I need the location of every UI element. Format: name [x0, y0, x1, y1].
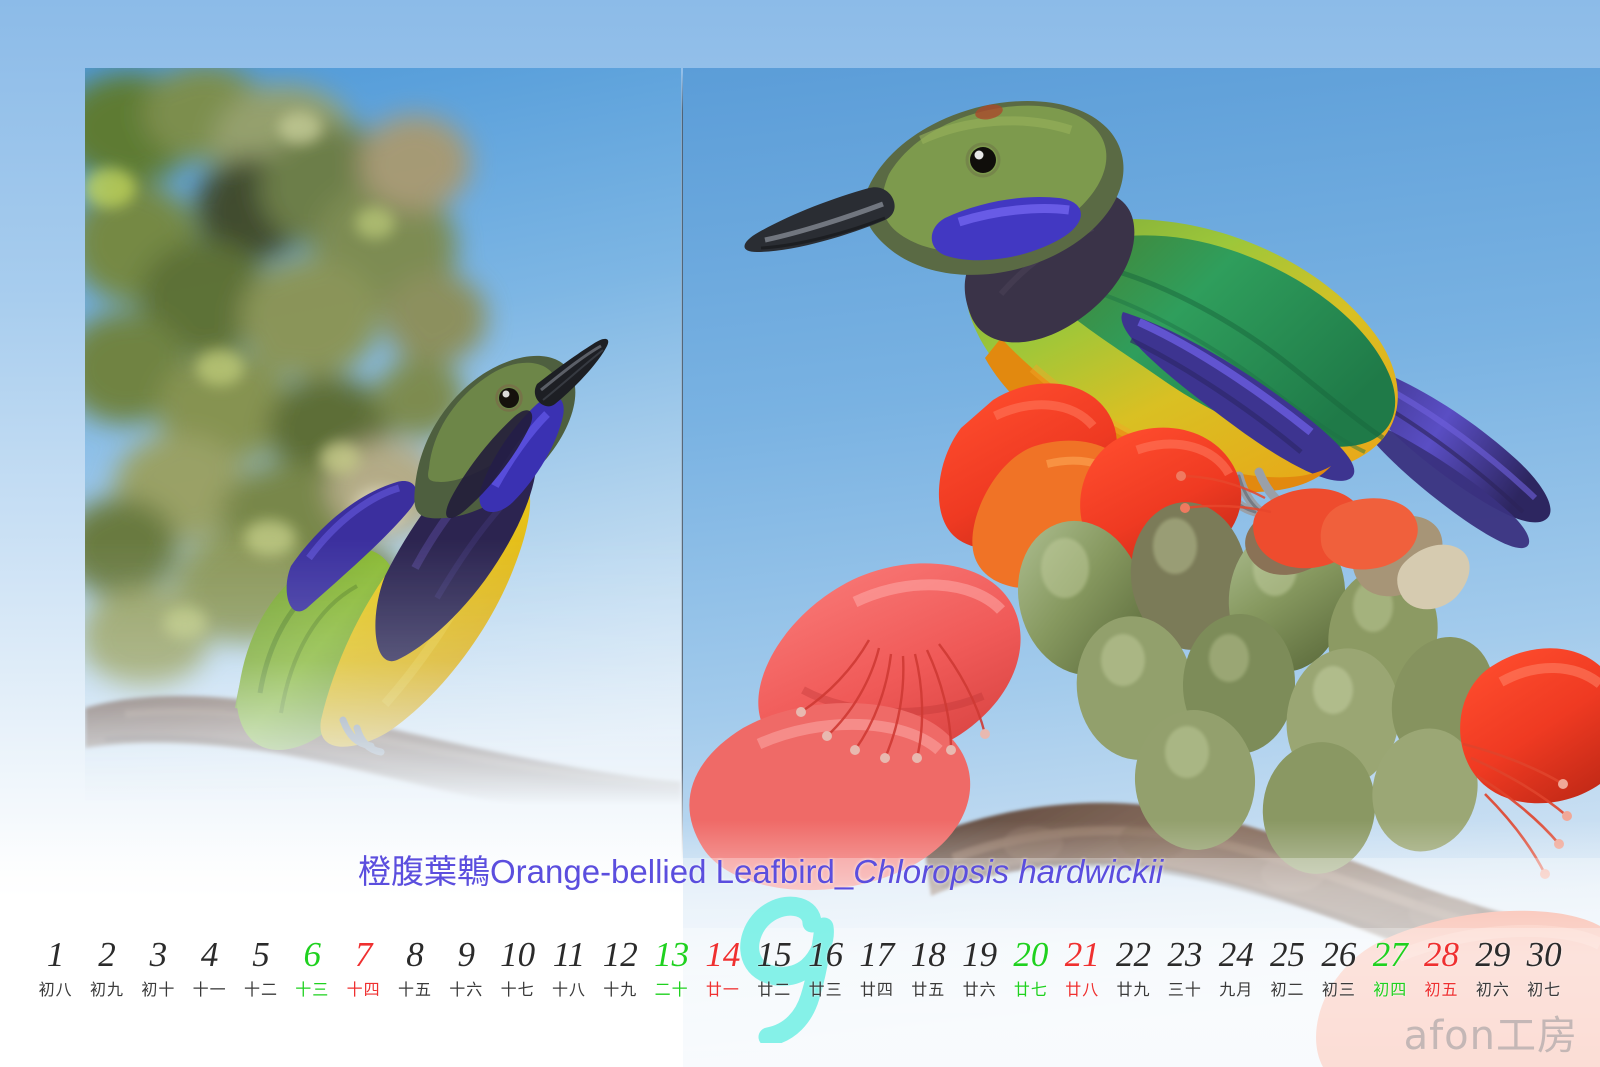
species-caption: 橙腹葉鵯Orange-bellied Leafbird_Chloropsis h… — [358, 852, 1163, 892]
calendar-day-cell[interactable]: 5十二 — [235, 932, 286, 1002]
calendar-day-cell[interactable]: 19廿六 — [954, 932, 1005, 1002]
calendar-lunar-date: 廿一 — [697, 978, 748, 1002]
calendar-lunar-date: 初九 — [81, 978, 132, 1002]
calendar-day-number: 20 — [1005, 932, 1056, 978]
calendar-lunar-date: 初七 — [1519, 978, 1570, 1002]
calendar-lunar-date: 廿三 — [800, 978, 851, 1002]
calendar-lunar-date: 初二 — [1262, 978, 1313, 1002]
caption-separator: _ — [835, 853, 853, 890]
calendar-day-cell[interactable]: 15廿二 — [749, 932, 800, 1002]
calendar-day-cell[interactable]: 30初七 — [1519, 932, 1570, 1002]
calendar-day-cell[interactable]: 27初四 — [1365, 932, 1416, 1002]
calendar-lunar-date: 初六 — [1467, 978, 1518, 1002]
calendar-lunar-date: 廿七 — [1005, 978, 1056, 1002]
calendar-day-cell[interactable]: 24九月 — [1211, 932, 1262, 1002]
calendar-lunar-date: 初四 — [1365, 978, 1416, 1002]
calendar-day-number: 24 — [1211, 932, 1262, 978]
calendar-day-number: 22 — [1108, 932, 1159, 978]
calendar-day-number: 14 — [697, 932, 748, 978]
calendar-page: 橙腹葉鵯Orange-bellied Leafbird_Chloropsis h… — [0, 0, 1600, 1067]
calendar-day-cell[interactable]: 11十八 — [543, 932, 594, 1002]
calendar-day-cell[interactable]: 10十七 — [492, 932, 543, 1002]
calendar-day-cell[interactable]: 1初八 — [30, 932, 81, 1002]
calendar-lunar-date: 廿二 — [749, 978, 800, 1002]
calendar-day-number: 17 — [851, 932, 902, 978]
calendar-day-cell[interactable]: 25初二 — [1262, 932, 1313, 1002]
calendar-day-number: 2 — [81, 932, 132, 978]
caption-scientific-name: Chloropsis hardwickii — [853, 853, 1163, 890]
calendar-day-number: 26 — [1313, 932, 1364, 978]
calendar-day-number: 1 — [30, 932, 81, 978]
calendar-day-number: 11 — [543, 932, 594, 978]
calendar-day-cell[interactable]: 26初三 — [1313, 932, 1364, 1002]
calendar-day-cell[interactable]: 23三十 — [1159, 932, 1210, 1002]
calendar-lunar-date: 十二 — [235, 978, 286, 1002]
calendar-lunar-date: 廿八 — [1057, 978, 1108, 1002]
left-photo — [85, 68, 681, 828]
calendar-lunar-date: 初五 — [1416, 978, 1467, 1002]
calendar-lunar-date: 三十 — [1159, 978, 1210, 1002]
calendar-lunar-date: 十五 — [389, 978, 440, 1002]
calendar-day-number: 3 — [133, 932, 184, 978]
calendar-day-number: 6 — [287, 932, 338, 978]
calendar-day-cell[interactable]: 17廿四 — [851, 932, 902, 1002]
calendar-day-number: 4 — [184, 932, 235, 978]
calendar-day-number: 5 — [235, 932, 286, 978]
caption-chinese-name: 橙腹葉鵯 — [358, 853, 490, 890]
calendar-day-number: 15 — [749, 932, 800, 978]
calendar-day-cell[interactable]: 21廿八 — [1057, 932, 1108, 1002]
calendar-day-cell[interactable]: 3初十 — [133, 932, 184, 1002]
calendar-lunar-date: 十八 — [543, 978, 594, 1002]
calendar-lunar-date: 初八 — [30, 978, 81, 1002]
calendar-day-number: 13 — [646, 932, 697, 978]
calendar-lunar-date: 廿五 — [903, 978, 954, 1002]
calendar-day-number: 23 — [1159, 932, 1210, 978]
calendar-day-cell[interactable]: 2初九 — [81, 932, 132, 1002]
right-photo-artwork — [683, 68, 1600, 1067]
calendar-lunar-date: 廿四 — [851, 978, 902, 1002]
calendar-day-cell[interactable]: 22廿九 — [1108, 932, 1159, 1002]
calendar-strip: 1初八2初九3初十4十一5十二6十三7十四8十五9十六10十七11十八12十九1… — [30, 932, 1570, 1002]
calendar-day-cell[interactable]: 7十四 — [338, 932, 389, 1002]
calendar-day-number: 27 — [1365, 932, 1416, 978]
calendar-day-number: 9 — [441, 932, 492, 978]
right-photo — [683, 68, 1600, 1067]
calendar-day-cell[interactable]: 16廿三 — [800, 932, 851, 1002]
calendar-day-cell[interactable]: 4十一 — [184, 932, 235, 1002]
calendar-day-number: 7 — [338, 932, 389, 978]
calendar-day-cell[interactable]: 28初五 — [1416, 932, 1467, 1002]
calendar-lunar-date: 十一 — [184, 978, 235, 1002]
left-photo-artwork — [85, 68, 681, 828]
calendar-day-cell[interactable]: 9十六 — [441, 932, 492, 1002]
calendar-day-number: 29 — [1467, 932, 1518, 978]
studio-watermark: afon工房 — [1404, 1003, 1578, 1061]
calendar-day-cell[interactable]: 12十九 — [595, 932, 646, 1002]
calendar-day-cell[interactable]: 13二十 — [646, 932, 697, 1002]
calendar-day-number: 21 — [1057, 932, 1108, 978]
calendar-lunar-date: 十三 — [287, 978, 338, 1002]
calendar-day-number: 19 — [954, 932, 1005, 978]
calendar-day-number: 12 — [595, 932, 646, 978]
calendar-day-number: 18 — [903, 932, 954, 978]
calendar-day-cell[interactable]: 18廿五 — [903, 932, 954, 1002]
calendar-day-number: 25 — [1262, 932, 1313, 978]
calendar-day-cell[interactable]: 14廿一 — [697, 932, 748, 1002]
caption-english-name: Orange-bellied Leafbird — [490, 853, 835, 890]
calendar-day-number: 8 — [389, 932, 440, 978]
calendar-lunar-date: 十九 — [595, 978, 646, 1002]
calendar-lunar-date: 十七 — [492, 978, 543, 1002]
calendar-lunar-date: 九月 — [1211, 978, 1262, 1002]
calendar-day-number: 28 — [1416, 932, 1467, 978]
calendar-day-number: 30 — [1519, 932, 1570, 978]
calendar-day-cell[interactable]: 29初六 — [1467, 932, 1518, 1002]
calendar-day-cell[interactable]: 6十三 — [287, 932, 338, 1002]
calendar-lunar-date: 廿六 — [954, 978, 1005, 1002]
calendar-day-number: 16 — [800, 932, 851, 978]
calendar-lunar-date: 十四 — [338, 978, 389, 1002]
calendar-day-cell[interactable]: 8十五 — [389, 932, 440, 1002]
calendar-lunar-date: 廿九 — [1108, 978, 1159, 1002]
calendar-lunar-date: 初十 — [133, 978, 184, 1002]
calendar-day-cell[interactable]: 20廿七 — [1005, 932, 1056, 1002]
calendar-lunar-date: 二十 — [646, 978, 697, 1002]
calendar-day-number: 10 — [492, 932, 543, 978]
calendar-lunar-date: 十六 — [441, 978, 492, 1002]
calendar-lunar-date: 初三 — [1313, 978, 1364, 1002]
